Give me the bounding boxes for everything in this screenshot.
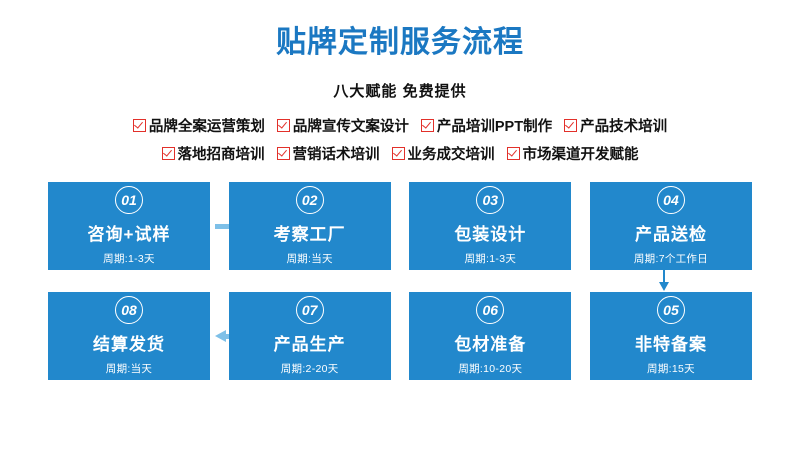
flow-step-03[interactable]: 03 包装设计 周期:1-3天 <box>409 182 571 270</box>
flow-step-02[interactable]: 02 考察工厂 周期:当天 <box>229 182 391 270</box>
step-period: 周期:1-3天 <box>103 251 155 266</box>
step-name: 包装设计 <box>454 220 526 245</box>
flow-step-01[interactable]: 01 咨询+试样 周期:1-3天 <box>48 182 210 270</box>
benefits-row-2: 落地招商培训 营销话术培训 业务成交培训 市场渠道开发赋能 <box>44 143 756 164</box>
benefit-item: 市场渠道开发赋能 <box>507 143 639 164</box>
benefit-label: 市场渠道开发赋能 <box>523 143 639 164</box>
step-period: 周期:1-3天 <box>464 251 516 266</box>
check-icon <box>507 147 520 160</box>
flow-step-04[interactable]: 04 产品送检 周期:7个工作日 <box>590 182 752 270</box>
benefit-item: 品牌全案运营策划 <box>133 115 265 136</box>
step-number: 01 <box>115 186 143 214</box>
step-name: 考察工厂 <box>274 220 346 245</box>
check-icon <box>421 119 434 132</box>
step-name: 非特备案 <box>635 330 707 355</box>
benefit-label: 业务成交培训 <box>408 143 495 164</box>
step-name: 产品送检 <box>635 220 707 245</box>
benefit-item: 营销话术培训 <box>277 143 380 164</box>
step-name: 咨询+试样 <box>88 220 171 245</box>
check-icon <box>162 147 175 160</box>
check-icon <box>564 119 577 132</box>
benefit-item: 落地招商培训 <box>162 143 265 164</box>
step-number: 07 <box>296 296 324 324</box>
flow-step-08[interactable]: 08 结算发货 周期:当天 <box>48 292 210 380</box>
benefit-item: 业务成交培训 <box>392 143 495 164</box>
benefit-item: 产品技术培训 <box>564 115 667 136</box>
step-period: 周期:当天 <box>106 361 152 376</box>
step-name: 结算发货 <box>93 330 165 355</box>
flow-row-top: 01 咨询+试样 周期:1-3天 02 考察工厂 周期:当天 03 包装设计 周… <box>48 182 752 270</box>
step-number: 08 <box>115 296 143 324</box>
arrow-down-icon <box>658 270 672 292</box>
page-title: 贴牌定制服务流程 <box>0 0 800 58</box>
step-period: 周期:当天 <box>286 251 332 266</box>
page-subtitle: 八大赋能 免费提供 <box>0 80 800 101</box>
check-icon <box>277 147 290 160</box>
benefit-label: 产品培训PPT制作 <box>437 115 552 136</box>
step-name: 产品生产 <box>274 330 346 355</box>
check-icon <box>133 119 146 132</box>
benefit-label: 产品技术培训 <box>580 115 667 136</box>
step-number: 06 <box>476 296 504 324</box>
step-period: 周期:10-20天 <box>458 361 522 376</box>
step-number: 04 <box>657 186 685 214</box>
benefit-label: 落地招商培训 <box>178 143 265 164</box>
benefit-item: 品牌宣传文案设计 <box>277 115 409 136</box>
check-icon <box>392 147 405 160</box>
step-number: 02 <box>296 186 324 214</box>
benefits-list: 品牌全案运营策划 品牌宣传文案设计 产品培训PPT制作 产品技术培训 落地招商培… <box>0 115 800 164</box>
step-period: 周期:15天 <box>647 361 695 376</box>
benefits-row-1: 品牌全案运营策划 品牌宣传文案设计 产品培训PPT制作 产品技术培训 <box>44 115 756 136</box>
benefit-item: 产品培训PPT制作 <box>421 115 552 136</box>
flow-step-05[interactable]: 05 非特备案 周期:15天 <box>590 292 752 380</box>
benefit-label: 营销话术培训 <box>293 143 380 164</box>
benefit-label: 品牌宣传文案设计 <box>293 115 409 136</box>
step-name: 包材准备 <box>454 330 526 355</box>
check-icon <box>277 119 290 132</box>
flow-step-06[interactable]: 06 包材准备 周期:10-20天 <box>409 292 571 380</box>
flow-step-07[interactable]: 07 产品生产 周期:2-20天 <box>229 292 391 380</box>
step-number: 05 <box>657 296 685 324</box>
process-flow: 01 咨询+试样 周期:1-3天 02 考察工厂 周期:当天 03 包装设计 周… <box>0 182 800 380</box>
step-period: 周期:7个工作日 <box>634 251 708 266</box>
step-period: 周期:2-20天 <box>281 361 339 376</box>
slide-root: 贴牌定制服务流程 八大赋能 免费提供 品牌全案运营策划 品牌宣传文案设计 产品培… <box>0 0 800 451</box>
flow-row-bottom: 08 结算发货 周期:当天 07 产品生产 周期:2-20天 06 包材准备 周… <box>48 292 752 380</box>
benefit-label: 品牌全案运营策划 <box>149 115 265 136</box>
step-number: 03 <box>476 186 504 214</box>
